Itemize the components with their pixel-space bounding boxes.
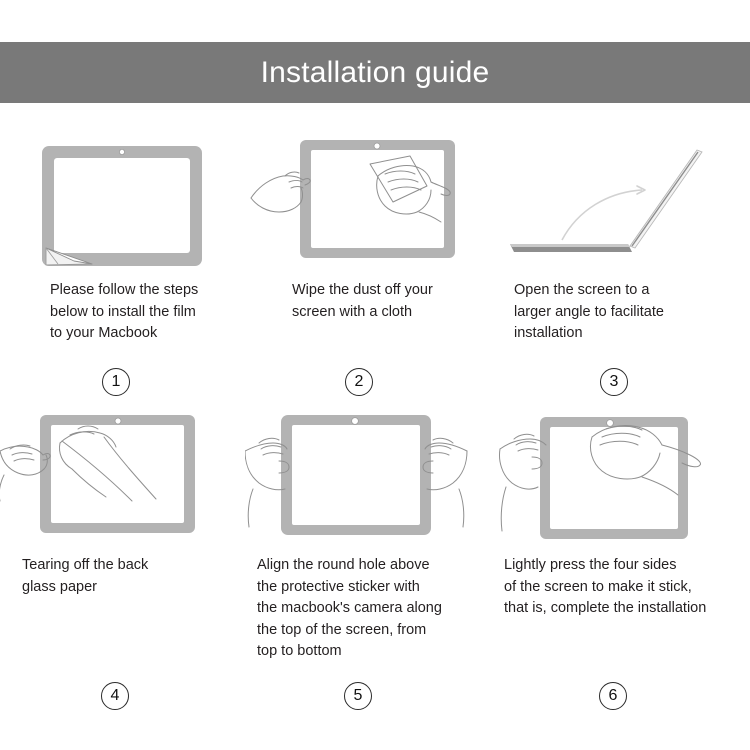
caption-line: Open the screen to a bbox=[514, 280, 744, 302]
caption-line: installation bbox=[514, 323, 744, 345]
caption-line: the top of the screen, from bbox=[257, 620, 487, 642]
page-title: Installation guide bbox=[261, 58, 490, 88]
caption-line: Lightly press the four sides bbox=[504, 555, 744, 577]
step-badge-3: 3 bbox=[600, 368, 628, 396]
step-4-caption: Tearing off the back glass paper bbox=[0, 555, 252, 598]
step-badge-2: 2 bbox=[345, 368, 373, 396]
caption-line: larger angle to facilitate bbox=[514, 302, 744, 324]
step-number: 1 bbox=[112, 374, 121, 390]
step-badge-6: 6 bbox=[599, 682, 627, 710]
caption-line: top to bottom bbox=[257, 641, 487, 663]
step-number: 2 bbox=[355, 374, 364, 390]
step-2-illustration bbox=[245, 128, 495, 273]
steps-row-1: Please follow the steps below to install… bbox=[0, 128, 750, 418]
step-5-caption: Align the round hole above the protectiv… bbox=[245, 555, 487, 663]
step-1-caption: Please follow the steps below to install… bbox=[0, 280, 280, 345]
step-number: 5 bbox=[354, 688, 363, 704]
caption-line: glass paper bbox=[22, 577, 252, 599]
step-1-illustration bbox=[0, 128, 250, 273]
caption-line: that is, complete the installation bbox=[504, 598, 744, 620]
step-badge-4: 4 bbox=[101, 682, 129, 710]
step-number: 4 bbox=[111, 688, 120, 704]
steps-grid: Please follow the steps below to install… bbox=[0, 128, 750, 748]
step-6-caption: Lightly press the four sides of the scre… bbox=[492, 555, 744, 620]
step-card-4: Tearing off the back glass paper bbox=[0, 403, 250, 693]
step-2-caption: Wipe the dust off your screen with a clo… bbox=[245, 280, 522, 323]
step-card-5: Align the round hole above the protectiv… bbox=[245, 403, 495, 693]
caption-line: Wipe the dust off your bbox=[292, 280, 522, 302]
caption-line: Align the round hole above bbox=[257, 555, 487, 577]
step-3-caption: Open the screen to a larger angle to fac… bbox=[492, 280, 744, 345]
caption-line: screen with a cloth bbox=[292, 302, 522, 324]
caption-line: Tearing off the back bbox=[22, 555, 252, 577]
step-number: 3 bbox=[610, 374, 619, 390]
step-badge-5: 5 bbox=[344, 682, 372, 710]
caption-line: of the screen to make it stick, bbox=[504, 577, 744, 599]
step-6-illustration bbox=[492, 403, 742, 548]
caption-line: the macbook's camera along bbox=[257, 598, 487, 620]
step-3-illustration bbox=[492, 128, 742, 273]
header-banner: Installation guide bbox=[0, 42, 750, 103]
step-number: 6 bbox=[609, 688, 618, 704]
steps-row-2: Tearing off the back glass paper bbox=[0, 403, 750, 693]
step-4-illustration bbox=[0, 403, 250, 548]
step-5-illustration bbox=[245, 403, 495, 548]
step-badge-1: 1 bbox=[102, 368, 130, 396]
step-card-6: Lightly press the four sides of the scre… bbox=[492, 403, 742, 693]
caption-line: the protective sticker with bbox=[257, 577, 487, 599]
